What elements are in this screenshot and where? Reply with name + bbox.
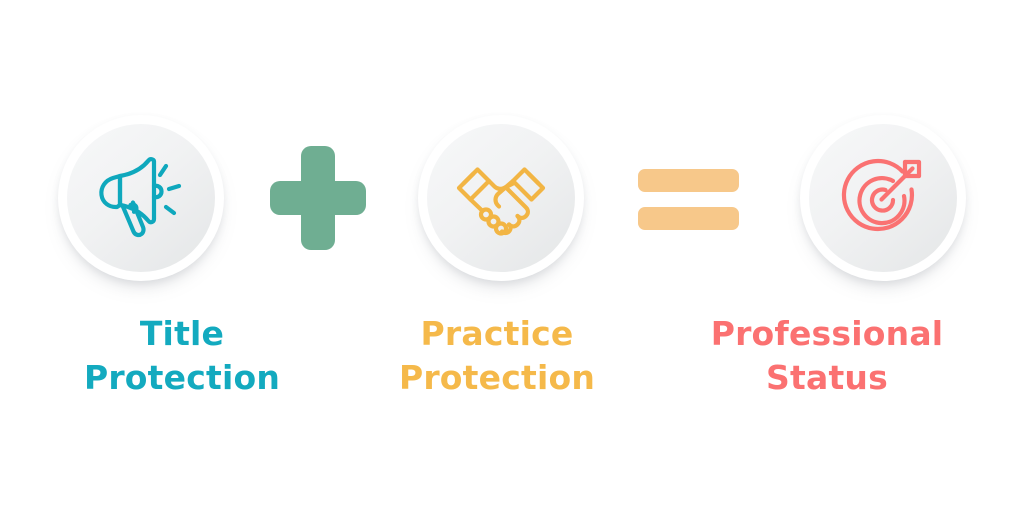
label-line-1: Title (32, 312, 332, 356)
handshake-icon (446, 143, 556, 253)
label-practice-protection: Practice Protection (332, 312, 662, 399)
equation-row (0, 108, 1024, 288)
label-line-2: Protection (32, 356, 332, 400)
label-line-1: Practice (332, 312, 662, 356)
infographic-canvas: Title Protection Practice Protection Pro… (0, 0, 1024, 512)
label-line-1: Professional (662, 312, 992, 356)
badge-practice-protection[interactable] (418, 115, 584, 281)
label-line-2: Protection (332, 356, 662, 400)
plus-icon (248, 143, 388, 253)
label-title-protection: Title Protection (32, 312, 332, 399)
label-line-2: Status (662, 356, 992, 400)
plus-vertical-bar (301, 146, 335, 250)
label-professional-status: Professional Status (662, 312, 992, 399)
labels-row: Title Protection Practice Protection Pro… (0, 312, 1024, 422)
equals-bottom-bar (638, 207, 739, 230)
badge-professional-status[interactable] (800, 115, 966, 281)
badge-title-protection[interactable] (58, 115, 224, 281)
megaphone-icon (86, 143, 196, 253)
target-arrow-icon (828, 143, 938, 253)
equals-top-bar (638, 169, 739, 192)
equals-icon (614, 158, 764, 238)
